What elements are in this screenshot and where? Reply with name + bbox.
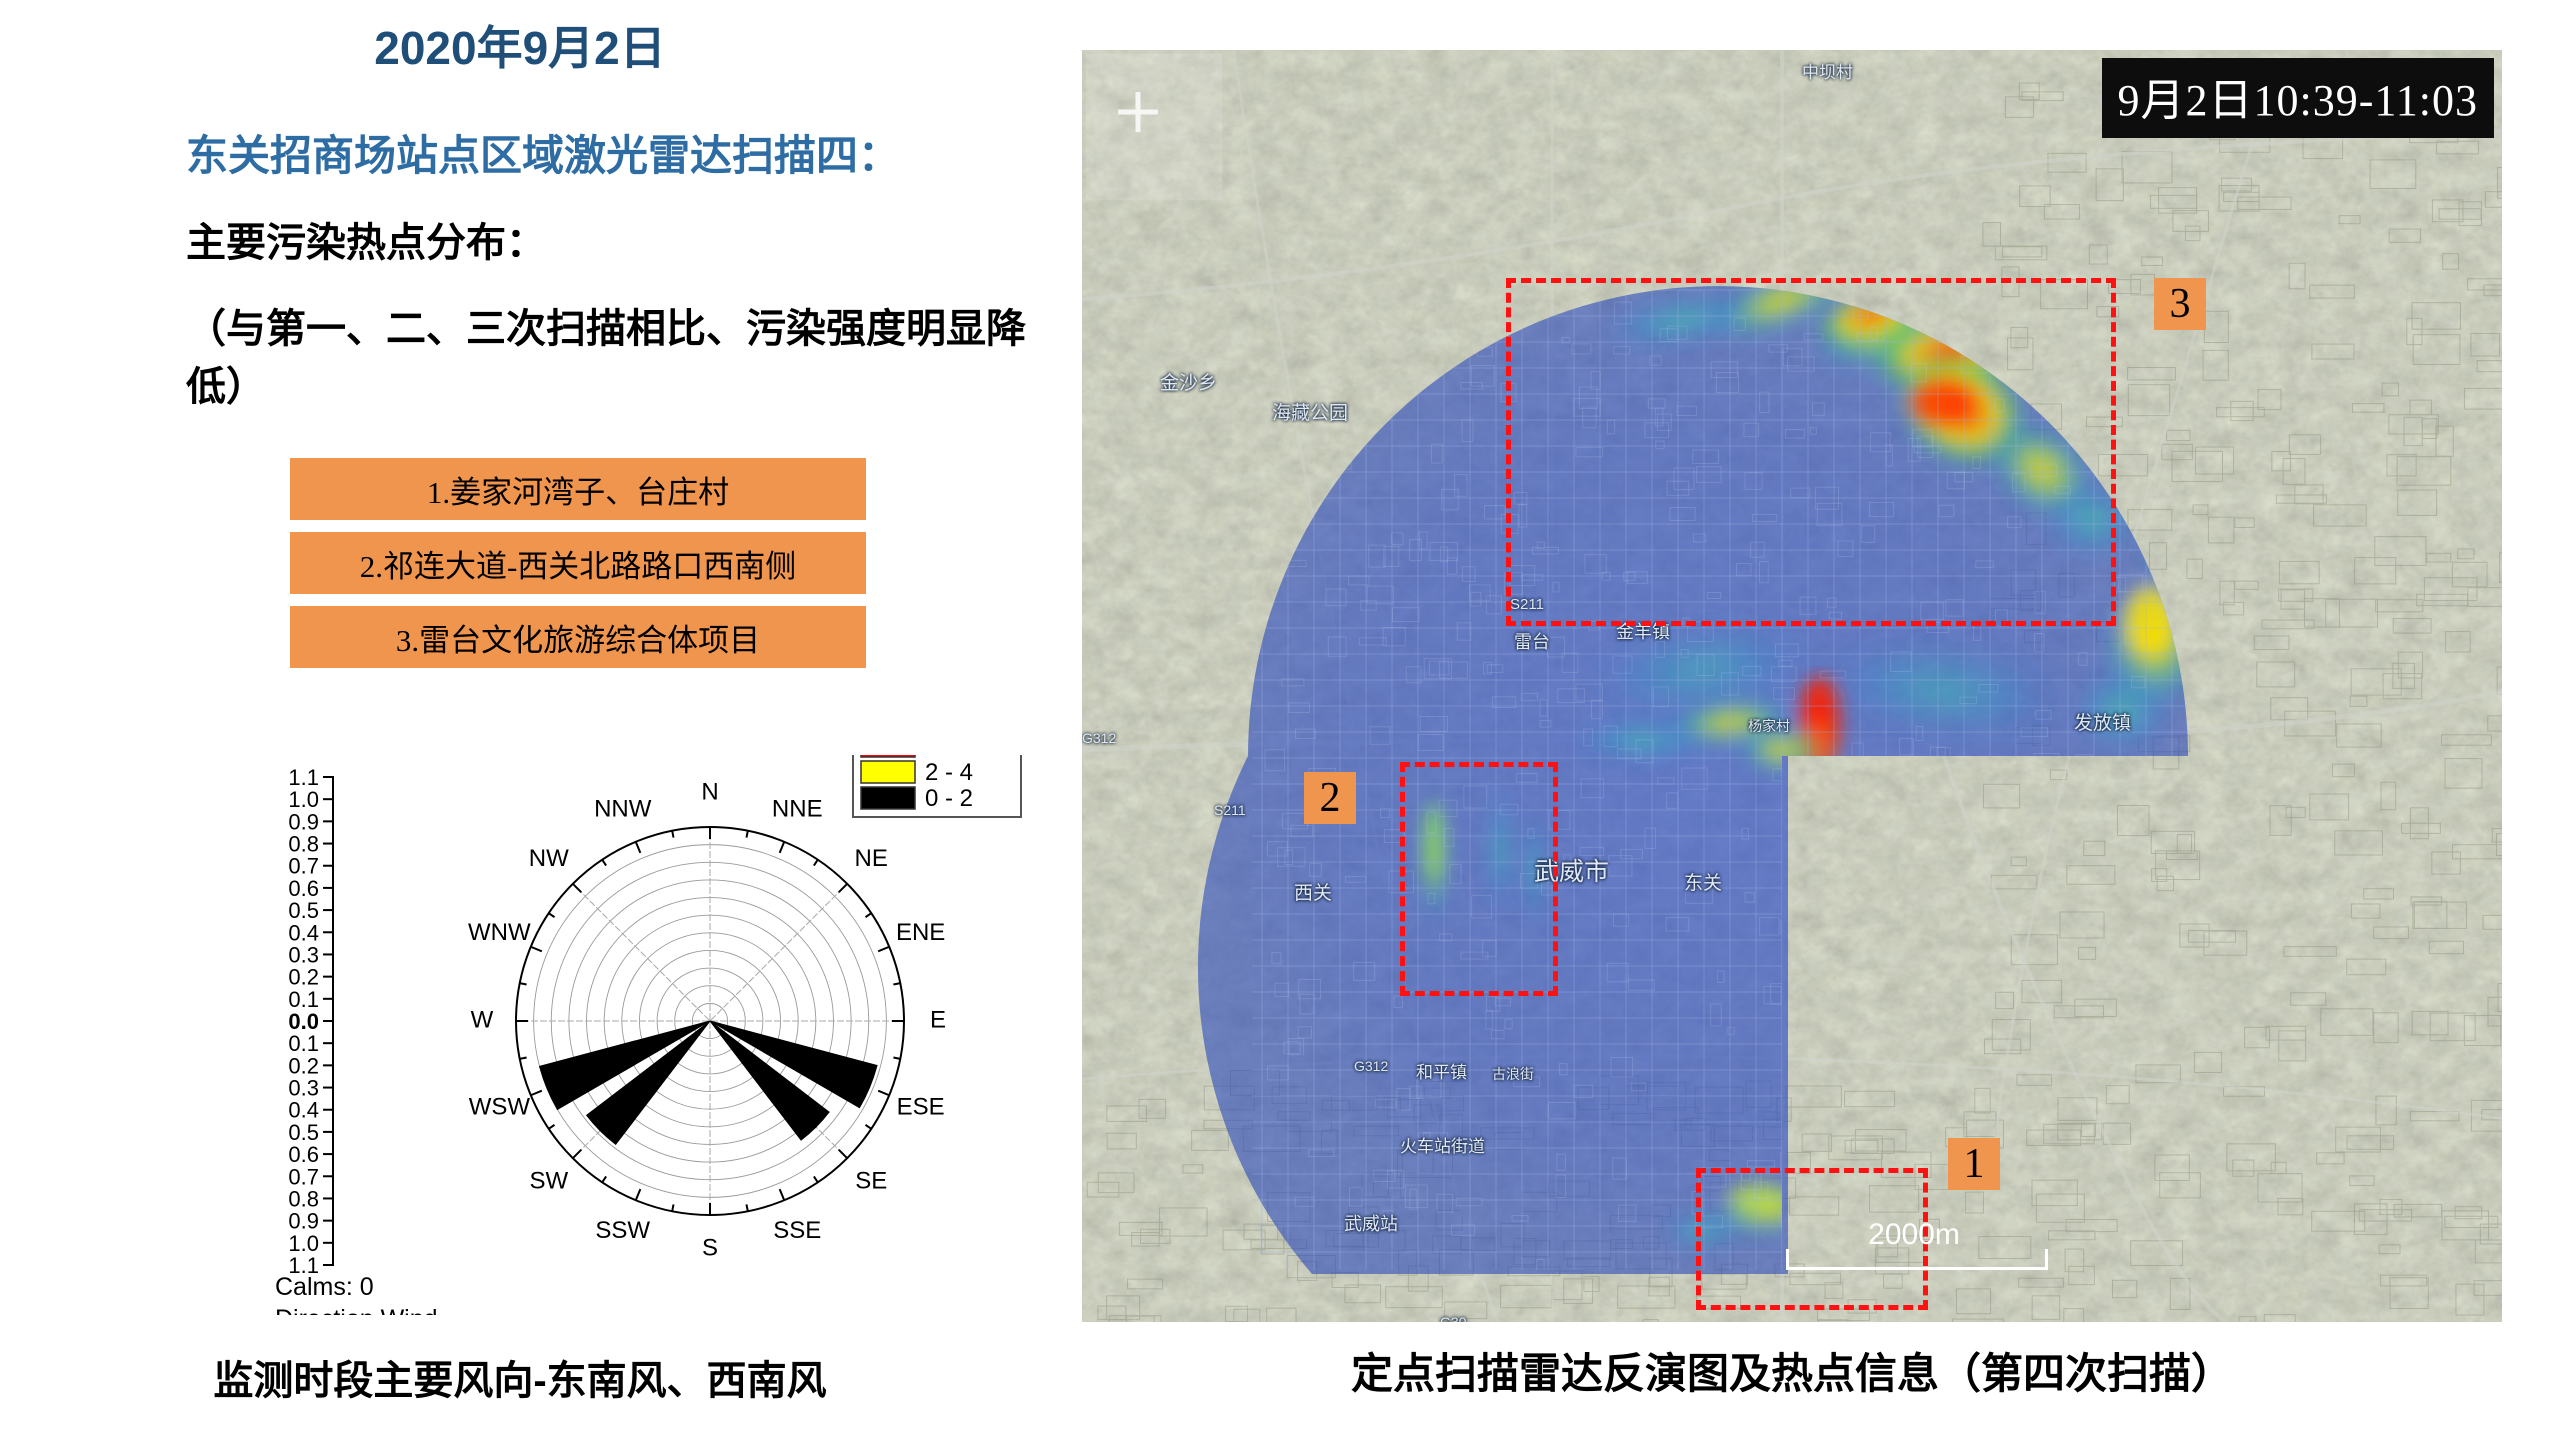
map-marker-1[interactable]: 1 <box>1948 1138 2000 1190</box>
caption-left: 监测时段主要风向-东南风、西南风 <box>0 1348 1040 1406</box>
page-title: 2020年9月2日 <box>0 12 1040 78</box>
hotspot-list: 1.姜家河湾子、台庄村 2.祁连大道-西关北路路口西南侧 3.雷台文化旅游综合体… <box>290 458 866 680</box>
direction-label-WSW: WSW <box>469 1094 531 1121</box>
direction-label-SSE: SSE <box>773 1217 821 1244</box>
map-scale-label: 2000m <box>1868 1218 1960 1252</box>
map-marker-3[interactable]: 3 <box>2154 278 2206 330</box>
direction-label-SW: SW <box>529 1168 568 1195</box>
direction-label-N: N <box>701 778 718 805</box>
direction-label-SSW: SSW <box>595 1217 650 1244</box>
direction-label-NE: NE <box>855 845 888 872</box>
legend-label-2: 0 - 2 <box>925 785 973 812</box>
section-heading: 主要污染热点分布： <box>186 210 1056 268</box>
direction-label-ESE: ESE <box>897 1094 945 1121</box>
wind-rose-petals <box>540 1021 877 1144</box>
comparison-note: （与第一、二、三次扫描相比、污染强度明显降低） <box>186 300 1056 416</box>
direction-label-ENE: ENE <box>896 919 945 946</box>
wind-rose-legend: >= 42 - 40 - 2 <box>853 755 1021 817</box>
direction-label-W: W <box>471 1006 494 1033</box>
hotspot-item-1[interactable]: 1.姜家河湾子、台庄村 <box>290 458 866 520</box>
direction-labels: NNNENEENEEESESESSESSSWSWWSWWWNWNWNNW <box>468 778 946 1261</box>
wind-rose-svg: 1.11.00.90.80.70.60.50.40.30.20.10.00.10… <box>255 755 1045 1315</box>
direction-label-NW: NW <box>529 845 569 872</box>
hotspot-item-3[interactable]: 3.雷台文化旅游综合体项目 <box>290 606 866 668</box>
caption-right: 定点扫描雷达反演图及热点信息（第四次扫描） <box>1082 1340 2502 1401</box>
direction-label-SE: SE <box>855 1168 887 1195</box>
radial-axis-ticks <box>323 777 333 1265</box>
direction-label-NNW: NNW <box>594 796 652 823</box>
hotspot-region-2 <box>1400 762 1558 996</box>
hotspot-item-2[interactable]: 2.祁连大道-西关北路路口西南侧 <box>290 532 866 594</box>
direction-label-NNE: NNE <box>772 796 823 823</box>
direction-label-WNW: WNW <box>468 919 531 946</box>
map-crosshair-widget <box>1086 54 1222 200</box>
slide-root: 2020年9月2日 东关招商场站点区域激光雷达扫描四： 主要污染热点分布： （与… <box>0 0 2560 1440</box>
direction-label-S: S <box>702 1234 718 1261</box>
wind-axis-label: Direction Wind <box>275 1305 438 1315</box>
radial-axis-labels: 1.11.00.90.80.70.60.50.40.30.20.10.00.10… <box>288 765 319 1278</box>
map-marker-2[interactable]: 2 <box>1304 772 1356 824</box>
subtitle: 东关招商场站点区域激光雷达扫描四： <box>186 122 1056 183</box>
map-scale-rule <box>1786 1249 2048 1270</box>
satellite-heatmap <box>1082 50 2502 1322</box>
map-scale-bar: 2000m <box>1786 1230 2042 1270</box>
calms-label: Calms: 0 <box>275 1273 374 1301</box>
legend-label-1: 2 - 4 <box>925 759 973 786</box>
scan-timestamp: 9月2日10:39-11:03 <box>2102 58 2494 138</box>
hotspot-region-3 <box>1506 278 2116 626</box>
direction-label-E: E <box>930 1006 946 1033</box>
left-panel: 2020年9月2日 东关招商场站点区域激光雷达扫描四： 主要污染热点分布： （与… <box>0 0 1060 1440</box>
wind-rose-chart: 1.11.00.90.80.70.60.50.40.30.20.10.00.10… <box>255 755 1045 1315</box>
radar-map-panel[interactable]: 中坝村金沙乡海藏公园S211雷台金羊镇发放镇杨家村G312S211武威市东关西关… <box>1082 50 2502 1322</box>
